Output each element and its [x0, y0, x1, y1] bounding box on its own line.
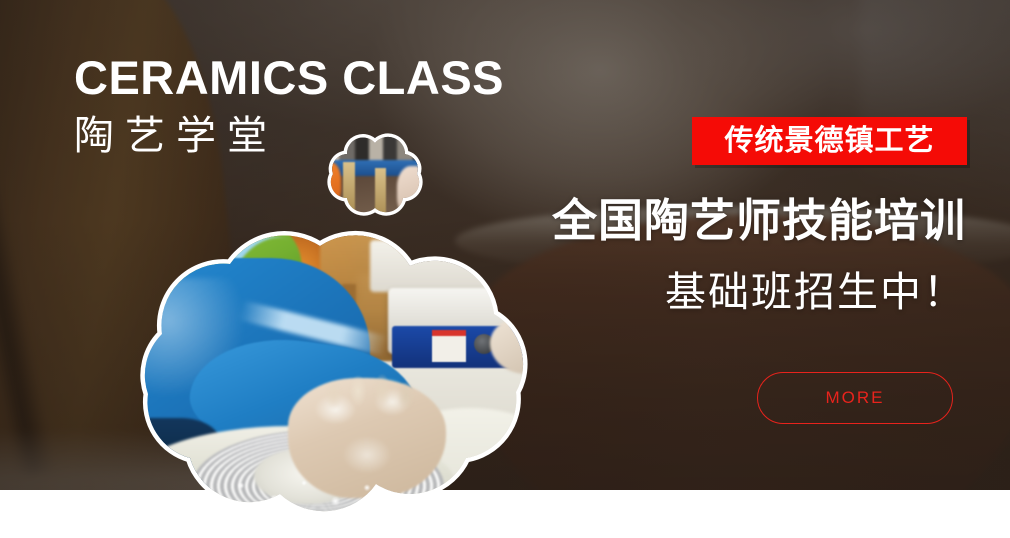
large-cloud-photo — [70, 222, 570, 522]
tradition-badge-label: 传统景德镇工艺 — [724, 127, 934, 156]
ceramics-class-banner: CERAMICS CLASS 陶艺学堂 — [0, 0, 1010, 538]
page-title-chinese: 陶艺学堂 — [74, 114, 278, 158]
headline-primary: 全国陶艺师技能培训 — [552, 198, 966, 243]
page-title-english: CERAMICS CLASS — [74, 54, 504, 101]
more-button[interactable]: MORE — [757, 372, 953, 424]
small-cloud-photo — [313, 128, 431, 220]
headline-secondary: 基础班招生中！ — [665, 272, 966, 313]
tradition-badge: 传统景德镇工艺 — [692, 117, 967, 165]
more-button-label: MORE — [826, 388, 885, 408]
